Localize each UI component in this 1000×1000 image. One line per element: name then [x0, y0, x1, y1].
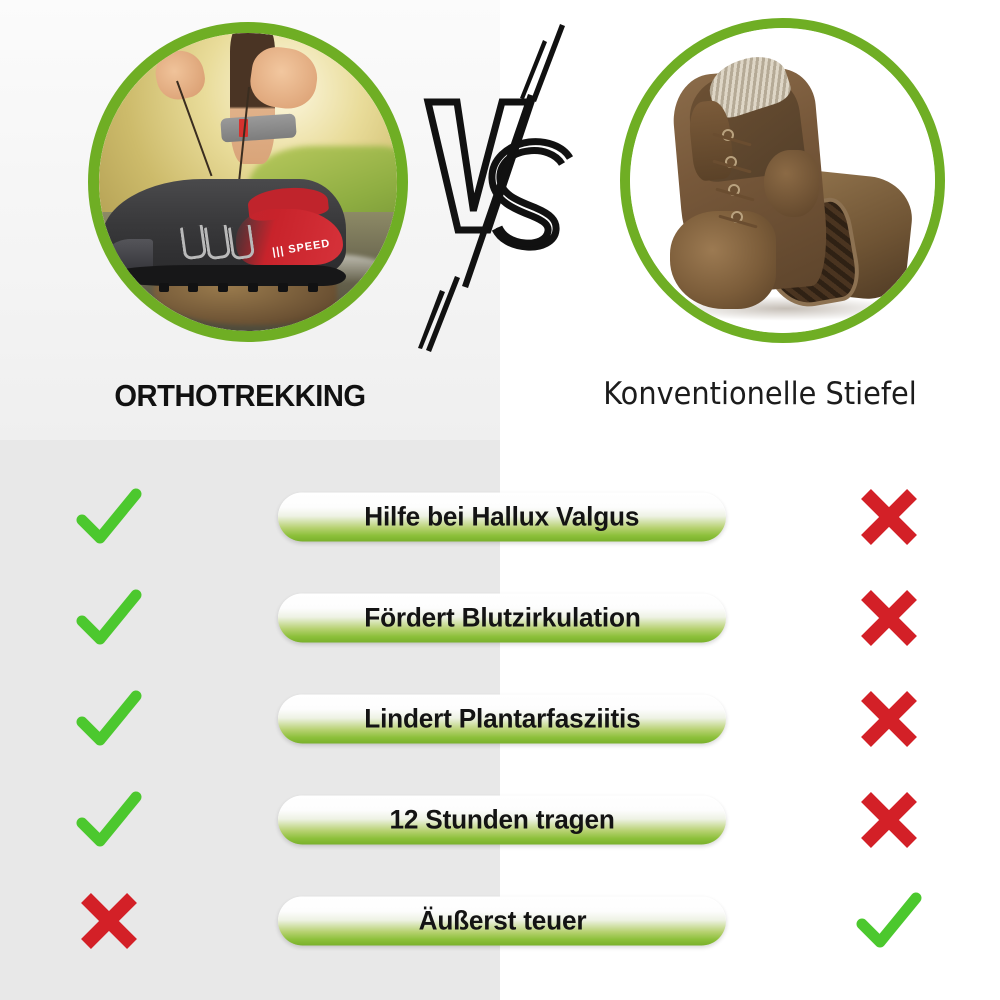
cross-icon	[852, 682, 926, 756]
feature-badge: 12 Stunden tragen	[278, 795, 726, 844]
muddy-boots-illustration	[630, 28, 935, 333]
vs-icon	[410, 18, 600, 358]
feature-label: 12 Stunden tragen	[389, 804, 614, 835]
table-row: Äußerst teuer	[0, 870, 1000, 971]
feature-badge: Äußerst teuer	[278, 896, 726, 945]
check-icon	[72, 480, 146, 554]
check-icon	[72, 682, 146, 756]
table-row: Fördert Blutzirkulation	[0, 567, 1000, 668]
check-icon	[72, 581, 146, 655]
cross-icon	[852, 480, 926, 554]
table-row: Hilfe bei Hallux Valgus	[0, 466, 1000, 567]
feature-badge: Hilfe bei Hallux Valgus	[278, 492, 726, 541]
product-photo-left-inner: ||| SPEED	[99, 33, 397, 331]
feature-label: Äußerst teuer	[418, 905, 586, 936]
feature-label: Fördert Blutzirkulation	[364, 602, 640, 633]
product-photo-conventional-boots	[620, 18, 945, 343]
cross-icon	[852, 581, 926, 655]
comparison-rows: Hilfe bei Hallux Valgus Fördert Blutzirk…	[0, 466, 1000, 971]
versus-graphic	[410, 18, 600, 358]
feature-label: Lindert Plantarfasziitis	[364, 703, 640, 734]
page-title-left: ORTHOTREKKING	[14, 378, 465, 414]
feature-badge: Lindert Plantarfasziitis	[278, 694, 726, 743]
cross-icon	[852, 783, 926, 857]
product-photo-orthotrekking: ||| SPEED	[88, 22, 408, 342]
comparison-infographic: ||| SPEED	[0, 0, 1000, 1000]
table-row: 12 Stunden tragen	[0, 769, 1000, 870]
cross-icon	[72, 884, 146, 958]
check-icon	[852, 884, 926, 958]
page-title-right: Konventionelle Stiefel	[537, 376, 983, 412]
feature-label: Hilfe bei Hallux Valgus	[365, 501, 640, 532]
table-row: Lindert Plantarfasziitis	[0, 668, 1000, 769]
trail-shoe-illustration: ||| SPEED	[99, 33, 397, 331]
check-icon	[72, 783, 146, 857]
product-photo-right-inner	[630, 28, 935, 333]
feature-badge: Fördert Blutzirkulation	[278, 593, 726, 642]
